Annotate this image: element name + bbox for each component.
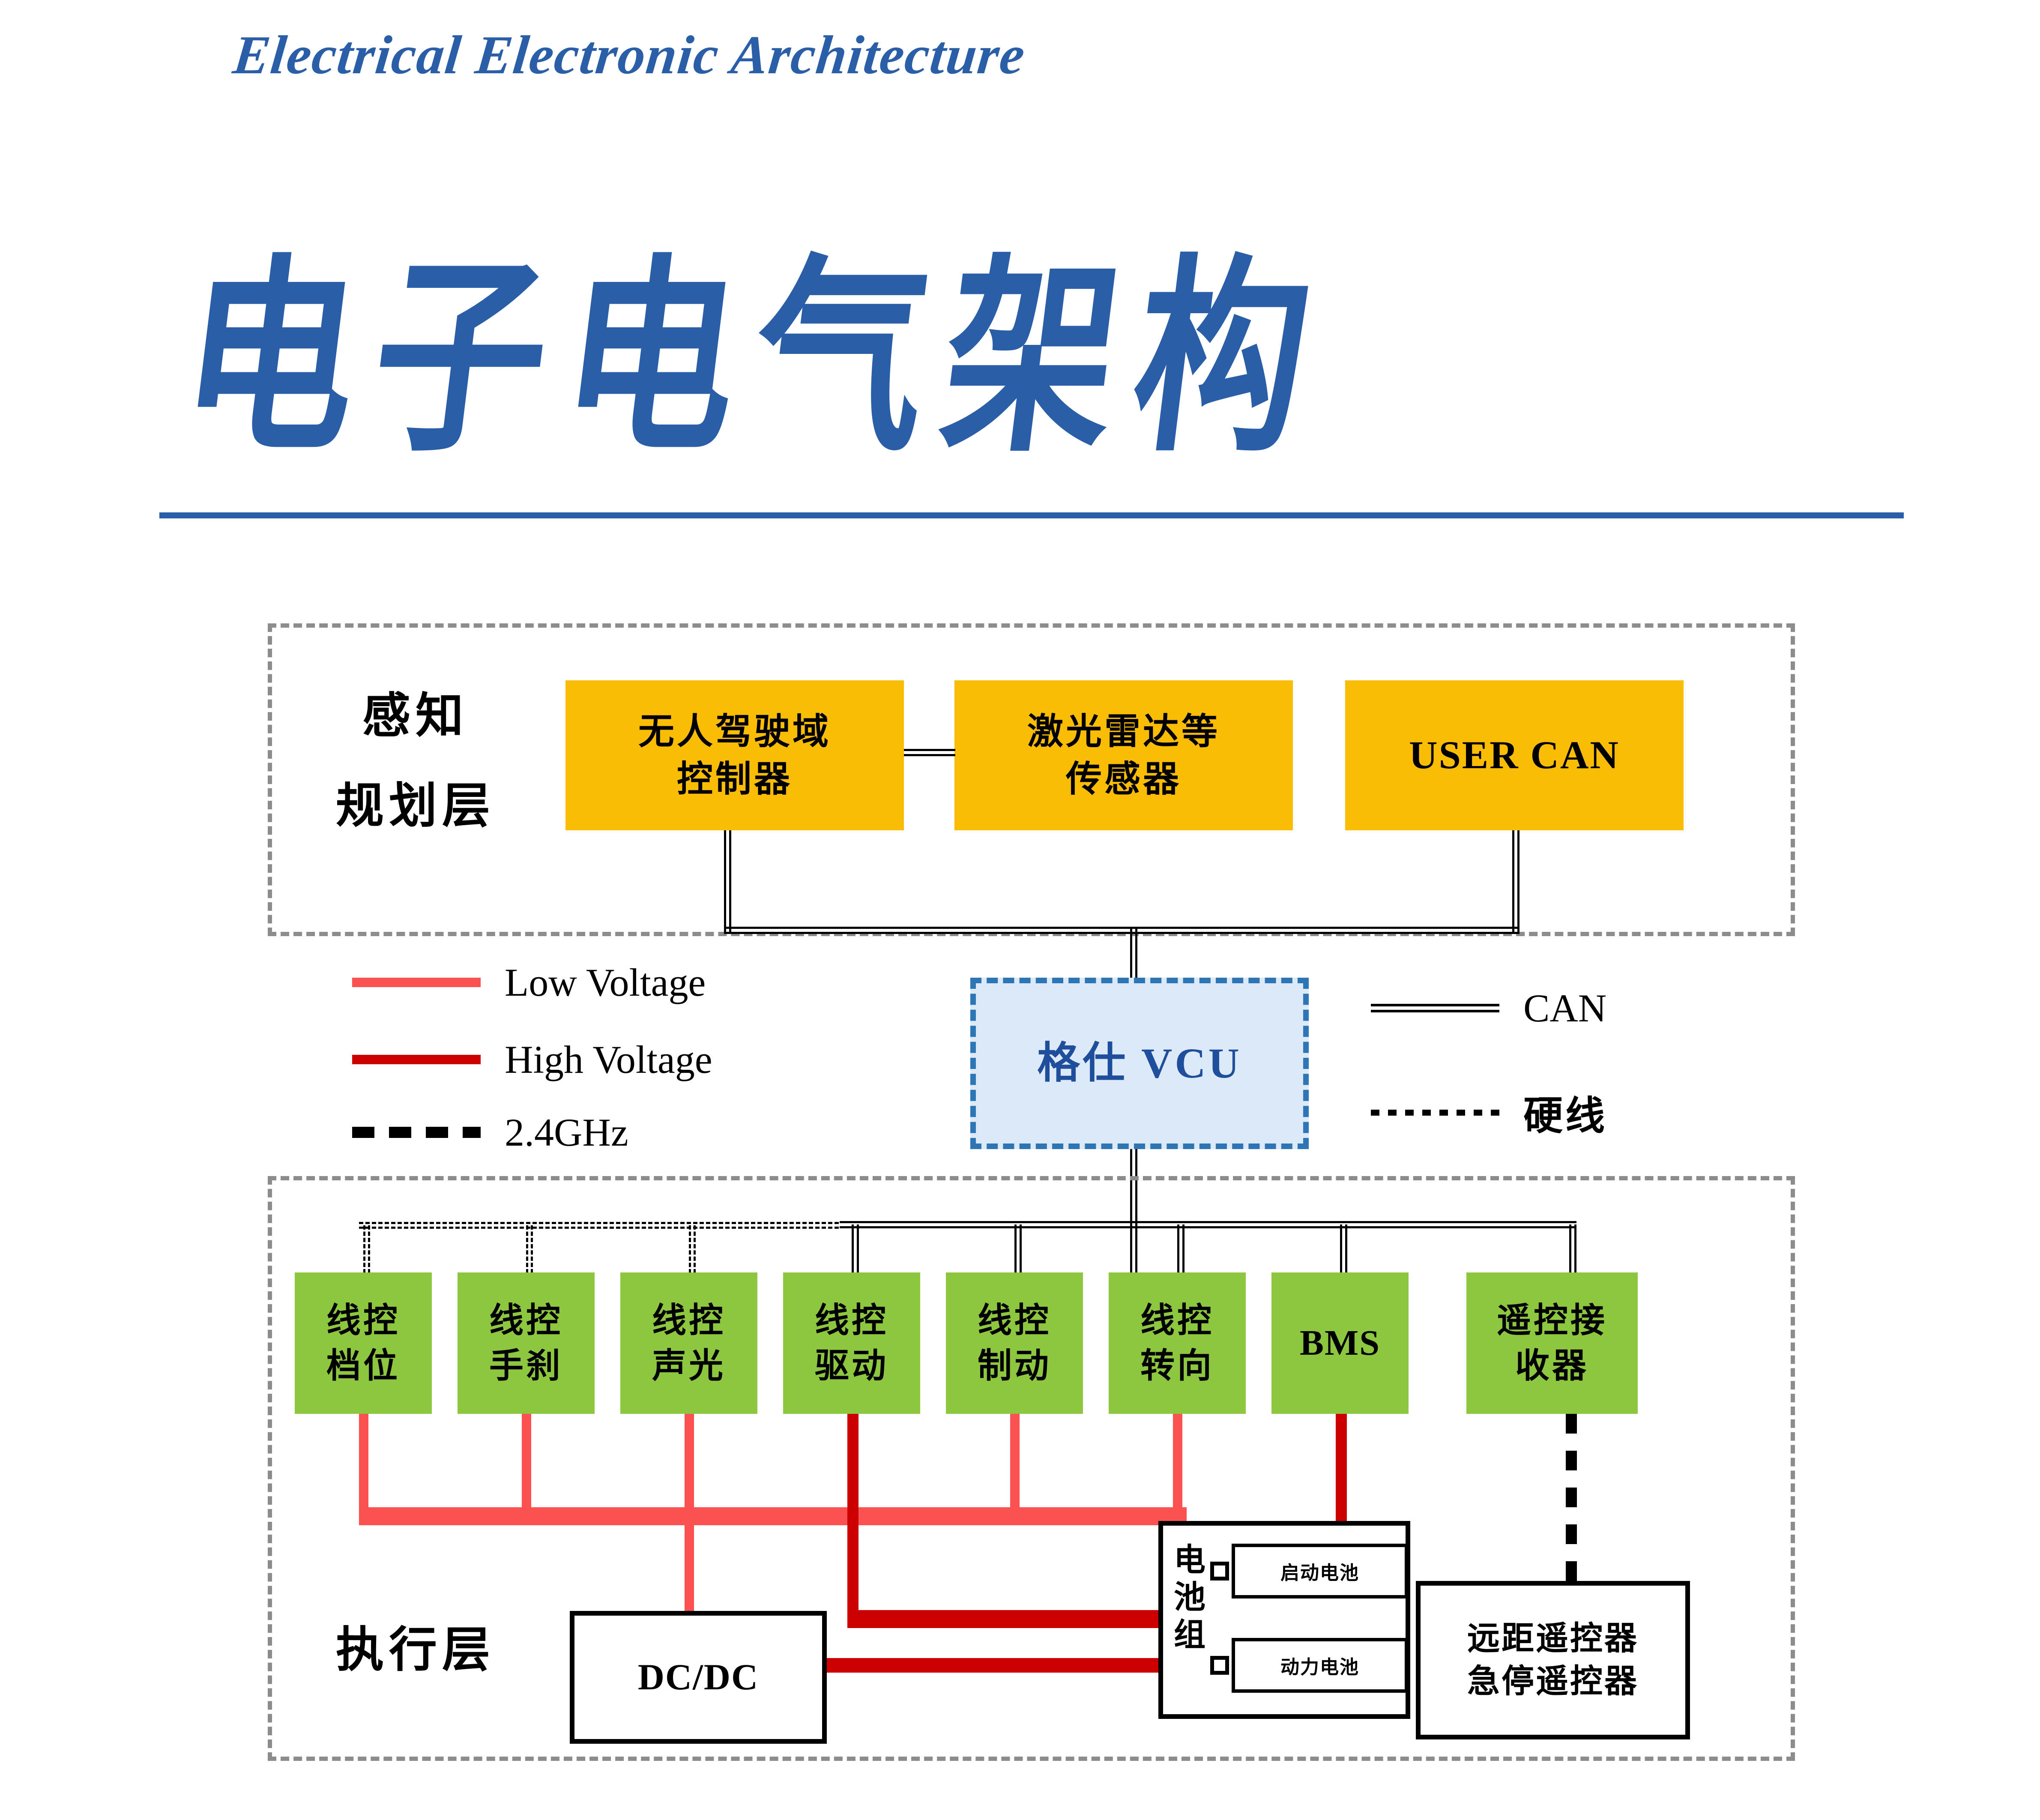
hardwire-drop-soundlight	[689, 1225, 696, 1273]
node-label-line2: 制动	[978, 1343, 1051, 1389]
header-divider	[159, 512, 1904, 518]
hardwire-drop-gear	[363, 1225, 370, 1273]
node-xbw-drive[interactable]: 线控 驱动	[783, 1272, 920, 1414]
traction-battery-label: 动力电池	[1280, 1652, 1359, 1679]
node-label-line1: 线控	[489, 1298, 563, 1343]
node-label-line2: 收器	[1515, 1343, 1589, 1389]
node-remote-controllers[interactable]: 远距遥控器 急停遥控器	[1416, 1581, 1690, 1739]
node-battery-pack[interactable]: 电池组 启动电池 动力电池	[1158, 1521, 1410, 1719]
lv-drop-brake	[1010, 1414, 1020, 1517]
rf-dashed-swatch-icon	[352, 1127, 481, 1138]
node-xbw-gear[interactable]: 线控 档位	[295, 1272, 432, 1414]
hv-run-dcdc-to-pack	[811, 1658, 1160, 1673]
rf-link-receiver-to-remote	[1566, 1414, 1577, 1581]
legend-rf-24ghz: 2.4GHz	[352, 1110, 628, 1155]
node-label-line2: 驱动	[815, 1343, 888, 1389]
node-label-line1: USER CAN	[1409, 729, 1620, 781]
can-double-line-swatch-icon	[1371, 1004, 1499, 1012]
node-lidar-sensors[interactable]: 激光雷达等 传感器	[954, 680, 1293, 830]
node-xbw-sound-light[interactable]: 线控 声光	[620, 1272, 757, 1414]
lv-drop-to-dcdc	[685, 1520, 694, 1611]
battery-pack-terminal-starter-icon	[1210, 1562, 1229, 1581]
lv-drop-steering	[1173, 1414, 1182, 1517]
node-user-can[interactable]: USER CAN	[1345, 680, 1684, 830]
node-starter-battery[interactable]: 启动电池	[1232, 1544, 1408, 1598]
starter-battery-label: 启动电池	[1280, 1557, 1359, 1585]
node-label-line2: 档位	[326, 1343, 400, 1389]
lv-drop-gear	[359, 1414, 368, 1517]
node-label-line1: 遥控接	[1497, 1298, 1607, 1343]
perception-layer-label-line1: 感知	[326, 677, 506, 746]
node-label-line2: 控制器	[677, 755, 793, 803]
node-xbw-handbrake[interactable]: 线控 手刹	[458, 1272, 595, 1414]
can-drop-user-can	[1512, 830, 1520, 932]
node-label-line1: 线控	[815, 1298, 888, 1343]
hardwire-drop-handbrake	[526, 1225, 533, 1273]
can-trunk-top	[724, 927, 1520, 934]
node-label-line2: 转向	[1140, 1343, 1214, 1389]
node-label-line1: 线控	[1140, 1298, 1214, 1343]
node-label-line1: BMS	[1300, 1320, 1380, 1367]
legend-can-bus: CAN	[1371, 985, 1606, 1031]
node-bms[interactable]: BMS	[1271, 1272, 1409, 1414]
legend-label: High Voltage	[505, 1037, 712, 1082]
node-vcu[interactable]: 格仕 VCU	[970, 978, 1309, 1149]
legend-label: Low Voltage	[505, 960, 706, 1005]
dcdc-label: DC/DC	[638, 1653, 759, 1702]
node-label-line1: 激光雷达等	[1027, 708, 1220, 755]
legend-high-voltage: High Voltage	[352, 1037, 712, 1082]
battery-pack-terminal-power-icon	[1210, 1656, 1229, 1675]
node-traction-battery[interactable]: 动力电池	[1232, 1638, 1408, 1693]
node-ads-domain-controller[interactable]: 无人驾驶域 控制器	[565, 680, 904, 830]
diagram-canvas: Electrical Electronic Architecture 电子电气架…	[0, 0, 2040, 1820]
node-label-line1: 线控	[978, 1298, 1051, 1343]
node-label-line2: 声光	[652, 1343, 726, 1389]
node-label-line2: 传感器	[1066, 755, 1182, 803]
node-label-line1: 无人驾驶域	[638, 708, 831, 755]
can-trunk-bottom	[840, 1221, 1576, 1228]
lv-bus-horizontal	[359, 1507, 1187, 1525]
hv-run-drive-to-pack	[847, 1610, 1169, 1628]
legend-label: 2.4GHz	[505, 1110, 628, 1155]
node-xbw-brake[interactable]: 线控 制动	[946, 1272, 1083, 1414]
remote-controllers-line1: 远距遥控器	[1467, 1617, 1639, 1660]
can-drop-brake	[1014, 1224, 1022, 1273]
can-drop-to-vcu	[1130, 927, 1137, 980]
node-label-line1: 线控	[652, 1298, 726, 1343]
english-title: Electrical Electronic Architecture	[230, 24, 1028, 87]
can-drop-remote-receiver	[1569, 1224, 1576, 1273]
legend-low-voltage: Low Voltage	[352, 960, 706, 1005]
hv-drop-drive	[847, 1414, 858, 1619]
can-link-ads-to-lidar	[904, 749, 955, 756]
low-voltage-swatch-icon	[352, 978, 481, 987]
lv-drop-soundlight	[685, 1414, 694, 1517]
can-drop-bms	[1340, 1224, 1347, 1273]
node-dcdc[interactable]: DC/DC	[570, 1611, 827, 1744]
can-drop-drive	[852, 1224, 859, 1273]
node-remote-receiver[interactable]: 遥控接 收器	[1466, 1272, 1638, 1414]
node-xbw-steering[interactable]: 线控 转向	[1109, 1272, 1246, 1414]
actuator-layer-label: 执行层	[326, 1611, 506, 1680]
can-drop-steering	[1177, 1224, 1185, 1273]
legend-label: CAN	[1523, 985, 1606, 1031]
high-voltage-swatch-icon	[352, 1055, 481, 1064]
chinese-title: 电子电气架构	[168, 189, 1347, 491]
perception-layer-label-line2: 规划层	[326, 767, 506, 836]
hv-drop-bms-to-pack	[1336, 1414, 1347, 1522]
hardwire-dotted-swatch-icon	[1371, 1110, 1499, 1116]
can-drop-ads	[724, 830, 731, 932]
node-label-line1: 线控	[326, 1298, 400, 1343]
hardwire-trunk	[359, 1222, 839, 1229]
battery-pack-label: 电池组	[1173, 1541, 1207, 1653]
legend-hardwire: 硬线	[1371, 1084, 1607, 1141]
vcu-label: 格仕 VCU	[1037, 1035, 1242, 1092]
legend-label: 硬线	[1523, 1084, 1607, 1141]
node-label-line2: 手刹	[489, 1343, 563, 1389]
remote-controllers-line2: 急停遥控器	[1467, 1660, 1639, 1703]
lv-drop-handbrake	[522, 1414, 531, 1517]
